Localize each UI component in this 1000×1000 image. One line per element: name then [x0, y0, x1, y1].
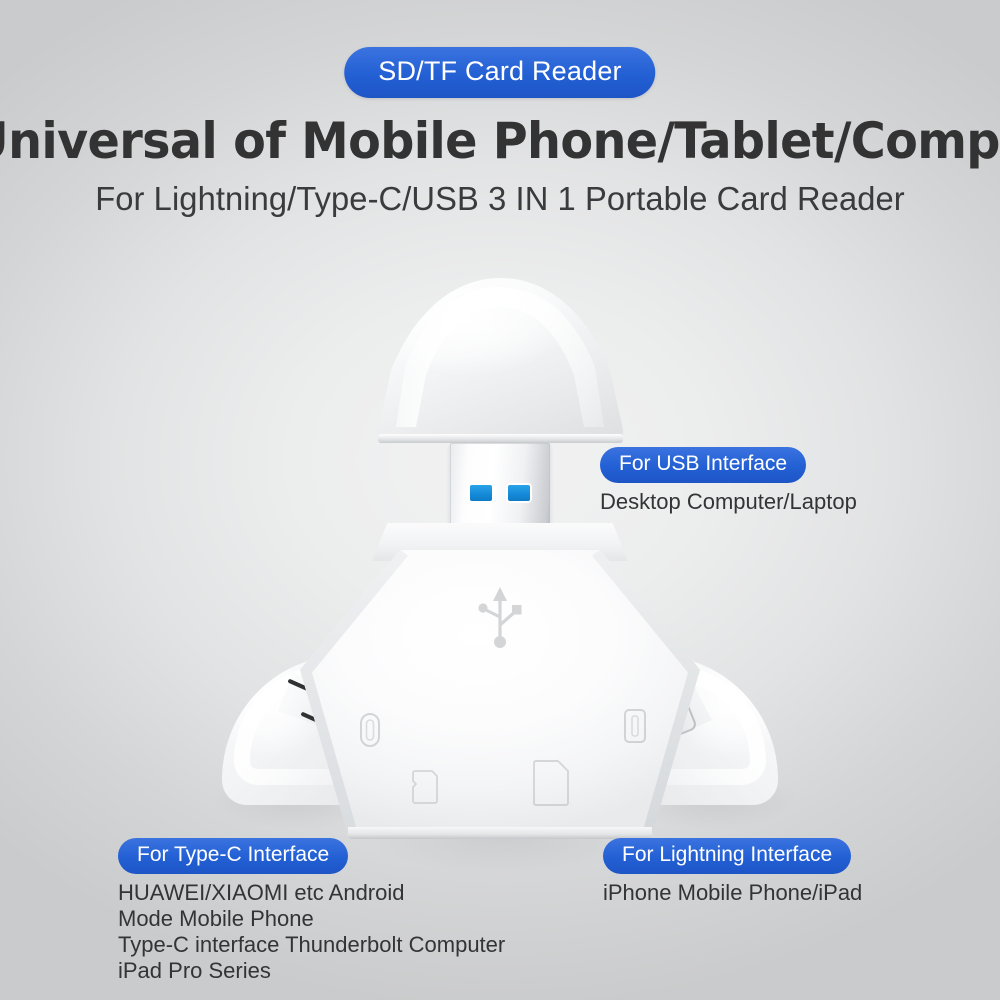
- type-c-port-icon: [355, 712, 385, 748]
- page-subtitle: For Lightning/Type-C/USB 3 IN 1 Portable…: [5, 180, 995, 218]
- type-c-callout-line-2: Mode Mobile Phone: [118, 906, 505, 932]
- lightning-port-icon: [620, 708, 650, 744]
- usb-callout-line-1: Desktop Computer/Laptop: [600, 489, 857, 515]
- usb-trident-icon: [468, 583, 532, 655]
- product-poster: SD/TF Card Reader Universal of Mobile Ph…: [0, 0, 1000, 1000]
- type-c-callout-line-4: iPad Pro Series: [118, 958, 505, 984]
- type-c-callout-line-1: HUAWEI/XIAOMI etc Android: [118, 880, 505, 906]
- top-cap-rim: [378, 434, 623, 443]
- usb-contact-left: [470, 485, 492, 501]
- usb-callout-description: Desktop Computer/Laptop: [600, 489, 857, 515]
- lightning-callout-line-1: iPhone Mobile Phone/iPad: [603, 880, 862, 906]
- usb-contact-right: [508, 485, 530, 501]
- product-category-badge: SD/TF Card Reader: [344, 47, 655, 98]
- callout-type-c: For Type-C Interface HUAWEI/XIAOMI etc A…: [118, 838, 505, 984]
- lightning-callout-badge: For Lightning Interface: [603, 838, 851, 874]
- callout-usb: For USB Interface Desktop Computer/Lapto…: [600, 447, 857, 515]
- usb-callout-badge: For USB Interface: [600, 447, 806, 483]
- microsd-tf-slot-icon: [412, 770, 438, 804]
- callout-lightning: For Lightning Interface iPhone Mobile Ph…: [603, 838, 862, 906]
- type-c-callout-description: HUAWEI/XIAOMI etc Android Mode Mobile Ph…: [118, 880, 505, 984]
- lightning-callout-description: iPhone Mobile Phone/iPad: [603, 880, 862, 906]
- sd-card-slot-icon: [533, 760, 569, 806]
- type-c-callout-badge: For Type-C Interface: [118, 838, 348, 874]
- product-image: [200, 265, 800, 835]
- page-title: Universal of Mobile Phone/Tablet/Compute…: [0, 112, 1000, 170]
- type-c-callout-line-3: Type-C interface Thunderbolt Computer: [118, 932, 505, 958]
